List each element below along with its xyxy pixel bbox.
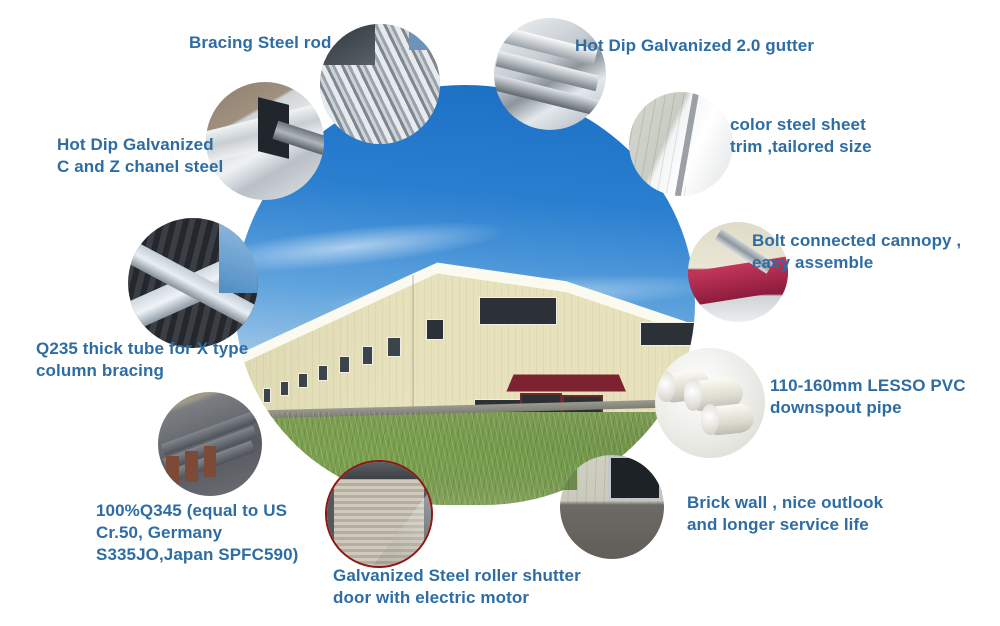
label-q345-steel-grade: 100%Q345 (equal to US Cr.50, Germany S33… <box>96 500 298 566</box>
bracing-steel-rod-image <box>320 24 440 144</box>
brick-wall-image <box>560 455 664 559</box>
pvc-downspout-pipe-image <box>655 348 765 458</box>
label-hot-dip-galvanized-cz: Hot Dip Galvanized C and Z chanel steel <box>57 134 223 178</box>
label-bolt-connected-cannopy: Bolt connected cannopy , easy assemble <box>752 230 961 274</box>
window <box>263 388 271 402</box>
window <box>339 356 350 373</box>
label-q235-thick-tube: Q235 thick tube for X type column bracin… <box>36 338 248 382</box>
callout-photo-q345-steel-grade[interactable] <box>158 392 262 496</box>
window <box>426 319 444 341</box>
label-hot-dip-galvanized-gutter: Hot Dip Galvanized 2.0 gutter <box>575 35 814 57</box>
callout-photo-color-steel-sheet-trim[interactable] <box>629 92 733 196</box>
callout-photo-bracing-steel-rod[interactable] <box>320 24 440 144</box>
label-lesso-pvc-downspout: 110-160mm LESSO PVC downspout pipe <box>770 375 966 419</box>
cz-channel-steel-image <box>206 82 324 200</box>
callout-diagram-canvas: Bracing Steel rod Hot Dip Galvanized C a… <box>0 0 1000 626</box>
window <box>479 297 557 325</box>
label-galvanized-roller-shutter-door: Galvanized Steel roller shutter door wit… <box>333 565 581 609</box>
window <box>298 373 307 389</box>
window <box>387 337 401 357</box>
window <box>640 322 695 347</box>
color-steel-sheet-trim-image <box>629 92 733 196</box>
label-color-steel-sheet-trim: color steel sheet trim ,tailored size <box>730 114 872 158</box>
callout-photo-brick-wall[interactable] <box>560 455 664 559</box>
label-bracing-steel-rod: Bracing Steel rod <box>189 32 331 54</box>
x-type-column-bracing-image <box>128 218 258 348</box>
window <box>280 381 289 396</box>
callout-photo-lesso-pvc-downspout[interactable] <box>655 348 765 458</box>
callout-photo-q235-thick-tube[interactable] <box>128 218 258 348</box>
roller-shutter-door-image <box>327 462 431 566</box>
entrance-canopy <box>506 374 626 391</box>
window <box>318 365 328 381</box>
callout-photo-galvanized-roller-shutter-door[interactable] <box>327 462 431 566</box>
label-brick-wall: Brick wall , nice outlook and longer ser… <box>687 492 883 536</box>
window <box>362 346 374 365</box>
callout-photo-hot-dip-galvanized-cz[interactable] <box>206 82 324 200</box>
q345-steel-beams-image <box>158 392 262 496</box>
